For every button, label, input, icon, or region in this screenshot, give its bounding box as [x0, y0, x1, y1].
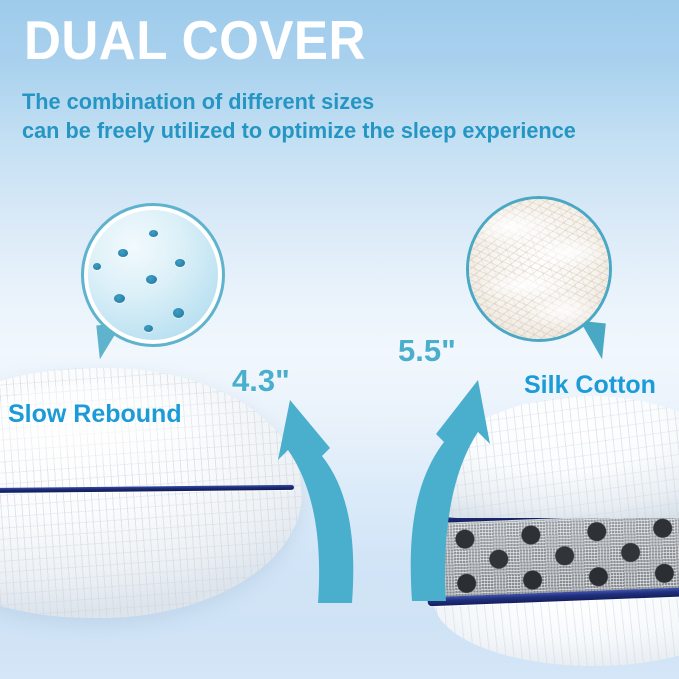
foam-hole	[118, 249, 128, 257]
measurement-right: 5.5"	[398, 333, 456, 369]
foam-hole	[144, 325, 153, 332]
foam-hole	[93, 263, 101, 270]
foam-hole	[149, 230, 158, 237]
silk-cotton-swatch	[466, 196, 612, 342]
pillow-left-highlight	[0, 383, 235, 478]
height-arrow-left-icon	[252, 398, 392, 603]
pillow-label-slow-rebound: Slow Rebound	[8, 400, 182, 429]
memory-foam-texture	[88, 210, 218, 340]
subtitle-line-2: can be freely utilized to optimize the s…	[22, 118, 576, 144]
silk-cotton-texture	[469, 199, 609, 339]
foam-hole	[173, 308, 184, 318]
foam-hole	[146, 275, 157, 284]
foam-hole	[175, 259, 185, 267]
height-arrow-right-icon	[372, 376, 512, 601]
memory-foam-swatch	[84, 206, 222, 344]
pillow-label-silk-cotton: Silk Cotton	[524, 371, 656, 400]
page-title: DUAL COVER	[24, 12, 366, 70]
subtitle-line-1: The combination of different sizes	[22, 89, 374, 115]
measurement-left: 4.3"	[232, 363, 290, 399]
foam-hole	[114, 294, 125, 303]
callout-silk-cotton	[466, 196, 626, 396]
infographic-canvas: DUAL COVER The combination of different …	[0, 0, 679, 679]
